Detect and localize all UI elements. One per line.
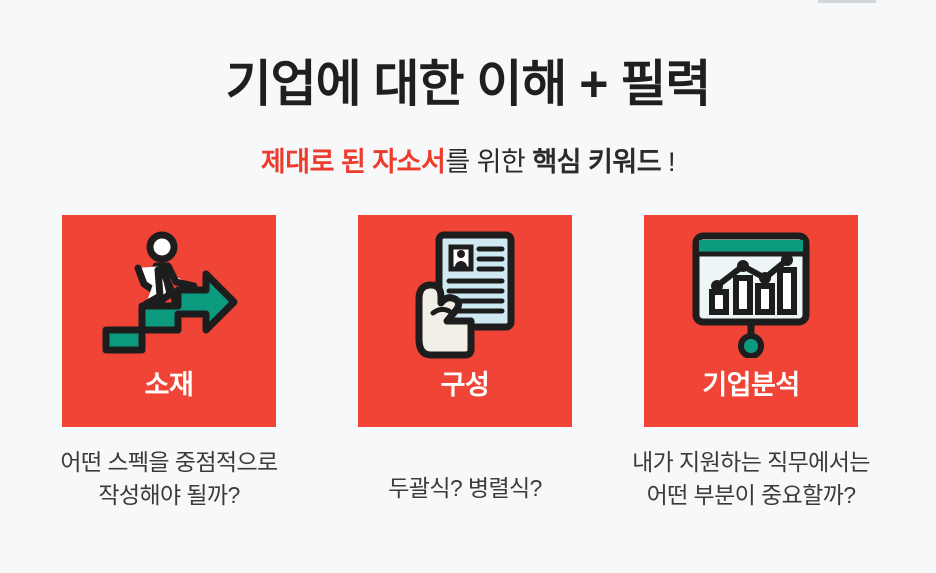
card-구성[interactable]: 구성 [358, 215, 572, 427]
caption-소재: 어떤 스펙을 중점적으로 작성해야 될까? [19, 446, 319, 511]
top-edge-marker [818, 0, 876, 3]
caption-line: 작성해야 될까? [19, 479, 319, 512]
presentation-bar-chart-icon [644, 229, 858, 359]
card-label: 구성 [358, 363, 572, 402]
caption-line: 내가 지원하는 직무에서는 [601, 446, 901, 479]
caption-row: 어떤 스펙을 중점적으로 작성해야 될까? 두괄식? 병렬식? 내가 지원하는 … [0, 446, 936, 536]
card-label: 소재 [62, 363, 276, 402]
caption-line: 어떤 부분이 중요할까? [601, 479, 901, 512]
card-label: 기업분석 [644, 363, 858, 402]
hand-holding-resume-icon [358, 229, 572, 359]
caption-line: 어떤 스펙을 중점적으로 [19, 446, 319, 479]
subtitle-connector: 를 위한 [445, 147, 532, 177]
card-기업분석[interactable]: 기업분석 [644, 215, 858, 427]
caption-line: 두괄식? 병렬식? [315, 472, 615, 505]
subtitle-highlight: 제대로 된 자소서 [261, 147, 445, 177]
card-row: 소재 [0, 215, 936, 430]
subtitle-emphasis: 핵심 키워드 [532, 147, 661, 177]
person-climbing-stairs-arrow-icon [62, 229, 276, 359]
page-title: 기업에 대한 이해 + 필력 [0, 57, 936, 112]
subtitle-exclamation: ! [661, 147, 675, 177]
caption-구성: 두괄식? 병렬식? [315, 472, 615, 505]
page-subtitle: 제대로 된 자소서를 위한 핵심 키워드 ! [0, 140, 936, 179]
card-소재[interactable]: 소재 [62, 215, 276, 427]
caption-기업분석: 내가 지원하는 직무에서는 어떤 부분이 중요할까? [601, 446, 901, 511]
